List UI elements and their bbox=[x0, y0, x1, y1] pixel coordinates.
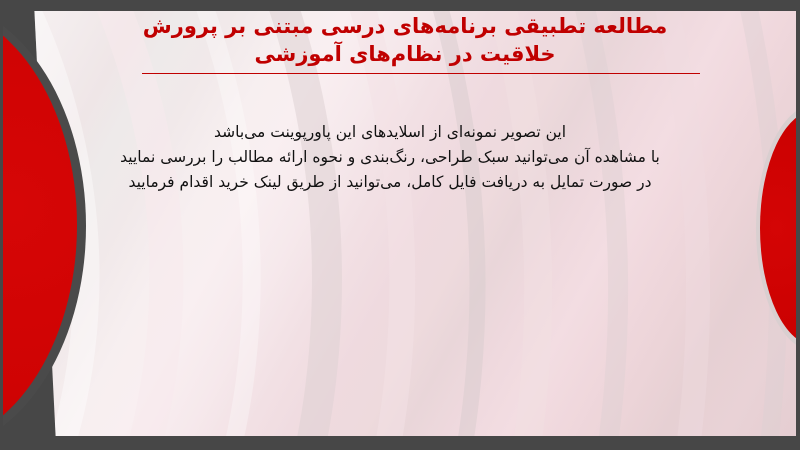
body-line-3: در صورت تمایل به دریافت فایل کامل، می‌تو… bbox=[100, 170, 680, 195]
presentation-slide: مطالعه تطبیقی برنامه‌های درسی مبتنی بر پ… bbox=[0, 0, 800, 450]
slide-title-line-1: مطالعه تطبیقی برنامه‌های درسی مبتنی بر پ… bbox=[100, 12, 710, 40]
body-line-2: با مشاهده آن می‌توانید سبک طراحی، رنگ‌بن… bbox=[100, 145, 680, 170]
slide-title: مطالعه تطبیقی برنامه‌های درسی مبتنی بر پ… bbox=[100, 12, 710, 68]
slide-frame-bottom bbox=[0, 436, 800, 450]
slide-frame-right bbox=[796, 0, 800, 450]
slide-frame-left bbox=[0, 0, 3, 450]
slide-body-text: این تصویر نمونه‌ای از اسلایدهای این پاور… bbox=[100, 120, 680, 195]
slide-title-line-2: خلاقیت در نظام‌های آموزشی bbox=[100, 40, 710, 68]
body-line-1: این تصویر نمونه‌ای از اسلایدهای این پاور… bbox=[100, 120, 680, 145]
slide-frame-top bbox=[0, 0, 800, 11]
slide-content-panel: مطالعه تطبیقی برنامه‌های درسی مبتنی بر پ… bbox=[0, 0, 800, 450]
title-underline-rule bbox=[142, 73, 700, 74]
